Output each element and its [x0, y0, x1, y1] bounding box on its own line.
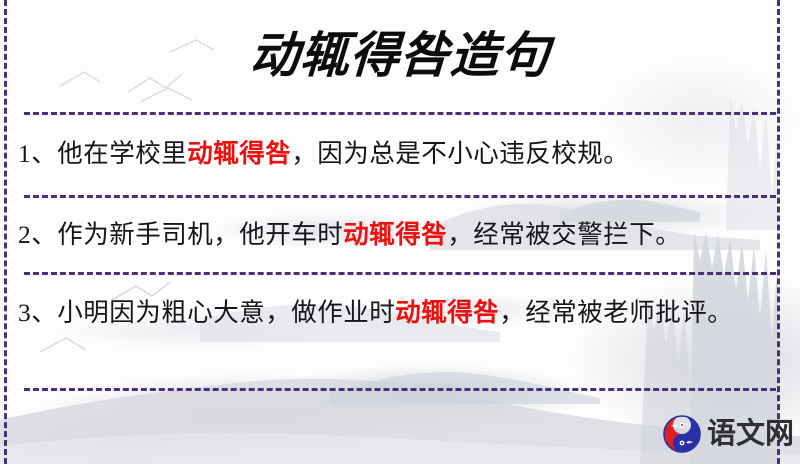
- sentence-3-number: 3、: [18, 298, 57, 327]
- sentence-3-after: ，经常被老师批评。: [499, 298, 733, 327]
- sentence-1-after: ，因为总是不小心违反校规。: [291, 139, 629, 168]
- sentence-2-number: 2、: [18, 220, 57, 249]
- site-logo[interactable]: 语文网: [662, 414, 794, 454]
- sentence-1-before: 他在学校里: [57, 139, 187, 168]
- page-title: 动辄得咎造句: [0, 22, 800, 88]
- site-logo-text: 语文网: [707, 420, 794, 449]
- example-sentence-1: 1、他在学校里动辄得咎，因为总是不小心违反校规。: [18, 132, 766, 175]
- sentence-1-idiom: 动辄得咎: [187, 139, 291, 168]
- divider-1: [24, 112, 776, 115]
- sentence-3-before: 小明因为粗心大意，做作业时: [57, 298, 395, 327]
- sentence-2-after: ，经常被交警拦下。: [447, 220, 681, 249]
- example-sentence-2: 2、作为新手司机，他开车时动辄得咎，经常被交警拦下。: [18, 213, 766, 256]
- sentence-2-before: 作为新手司机，他开车时: [57, 220, 343, 249]
- example-sentence-3: 3、小明因为粗心大意，做作业时动辄得咎，经常被老师批评。: [18, 291, 766, 334]
- divider-2: [24, 195, 776, 198]
- sentence-3-idiom: 动辄得咎: [395, 298, 499, 327]
- divider-4: [24, 388, 776, 391]
- divider-3: [24, 272, 776, 275]
- sentence-1-number: 1、: [18, 139, 57, 168]
- sentence-2-idiom: 动辄得咎: [343, 220, 447, 249]
- worksheet-page: 动辄得咎造句 1、他在学校里动辄得咎，因为总是不小心违反校规。 2、作为新手司机…: [0, 0, 800, 464]
- yin-yang-fish-icon: [662, 414, 702, 454]
